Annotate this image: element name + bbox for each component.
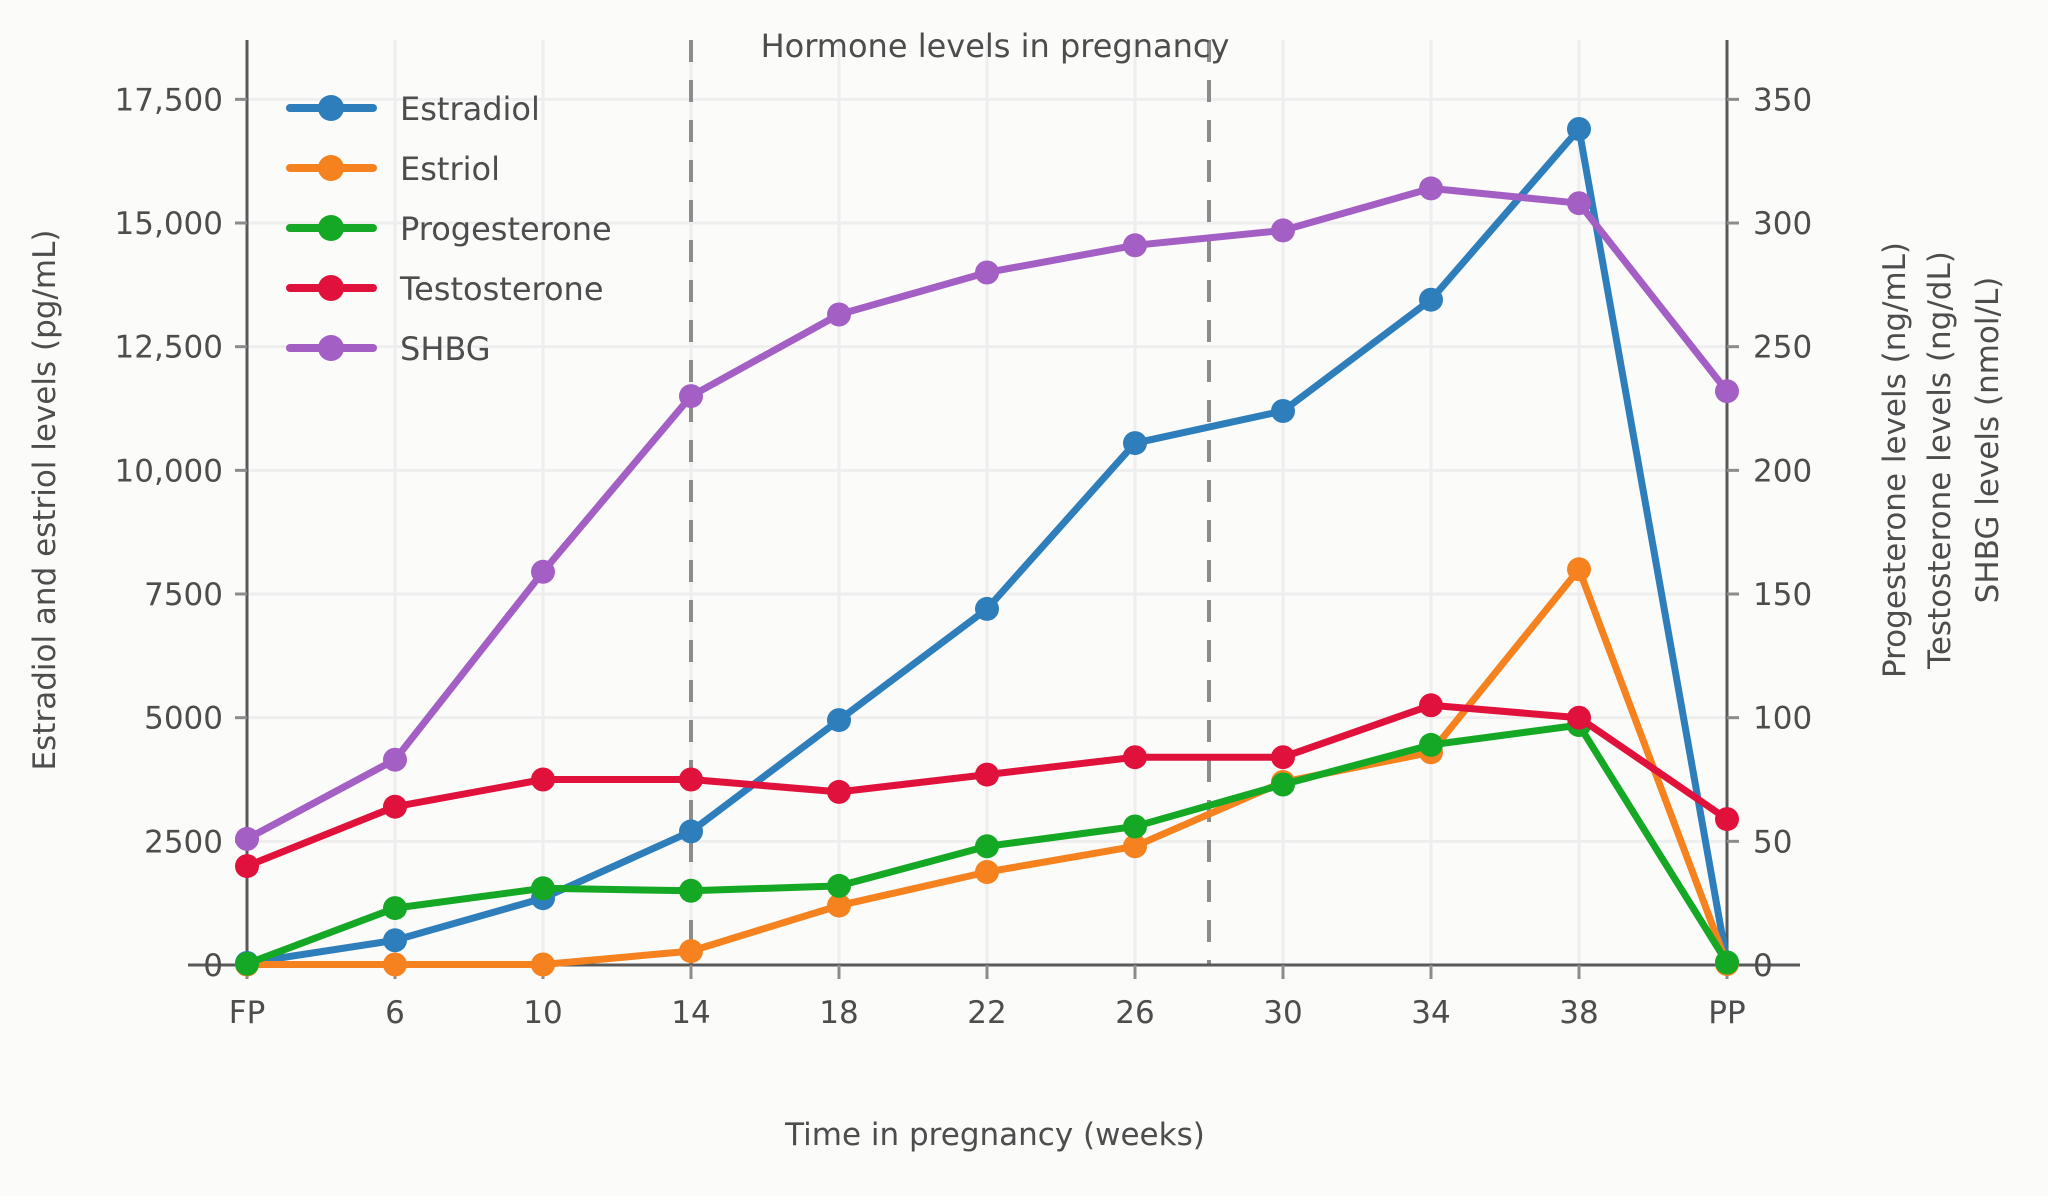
data-point[interactable]: [1419, 288, 1443, 312]
y-tick-label-left: 0: [203, 948, 223, 984]
chart-title: Hormone levels in pregnancy: [761, 27, 1230, 65]
legend-label: Testosterone: [399, 270, 604, 308]
data-point[interactable]: [1271, 399, 1295, 423]
data-point[interactable]: [531, 876, 555, 900]
y-axis-left-title: Estradiol and estriol levels (pg/mL): [27, 230, 63, 771]
y-tick-label-right: 150: [1753, 577, 1812, 613]
data-point[interactable]: [235, 827, 259, 851]
hormone-levels-line-chart: 025005000750010,00012,50015,00017,500 05…: [0, 0, 2048, 1196]
legend-dot-marker: [318, 155, 344, 181]
data-point[interactable]: [827, 780, 851, 804]
data-point[interactable]: [235, 854, 259, 878]
data-point[interactable]: [1123, 233, 1147, 257]
data-point[interactable]: [975, 834, 999, 858]
data-point[interactable]: [383, 896, 407, 920]
y-tick-label-right: 300: [1753, 206, 1812, 242]
y-tick-label-left: 15,000: [115, 206, 223, 242]
legend-label: Estriol: [400, 150, 500, 188]
data-point[interactable]: [383, 795, 407, 819]
data-point[interactable]: [1567, 191, 1591, 215]
data-point[interactable]: [1419, 693, 1443, 717]
data-point[interactable]: [679, 879, 703, 903]
y-tick-label-left: 12,500: [115, 330, 223, 366]
x-tick-label: 30: [1263, 995, 1302, 1031]
y-tick-label-left: 2500: [144, 824, 223, 860]
y-axis-right-title-testosterone: Testosterone levels (ng/dL): [1922, 251, 1958, 670]
data-point[interactable]: [1567, 117, 1591, 141]
x-tick-label: 26: [1115, 995, 1154, 1031]
y-tick-label-right: 350: [1753, 82, 1812, 118]
data-point[interactable]: [679, 768, 703, 792]
data-point[interactable]: [1419, 733, 1443, 757]
data-point[interactable]: [1567, 557, 1591, 581]
legend-label: Estradiol: [400, 90, 540, 128]
x-tick-label: 10: [523, 995, 562, 1031]
data-point[interactable]: [975, 597, 999, 621]
y-tick-label-left: 17,500: [115, 82, 223, 118]
legend-dot-marker: [318, 215, 344, 241]
y-tick-label-right: 0: [1753, 948, 1773, 984]
data-point[interactable]: [531, 953, 555, 977]
y-axis-right-title-progesterone: Progesterone levels (ng/mL): [1877, 242, 1913, 678]
data-point[interactable]: [827, 708, 851, 732]
data-point[interactable]: [679, 819, 703, 843]
data-point[interactable]: [679, 384, 703, 408]
y-tick-label-right: 250: [1753, 330, 1812, 366]
y-tick-label-left: 5000: [144, 701, 223, 737]
x-tick-label: 18: [819, 995, 858, 1031]
legend-label: Progesterone: [400, 210, 612, 248]
data-point[interactable]: [1419, 176, 1443, 200]
y-tick-label-left: 10,000: [115, 453, 223, 489]
y-tick-label-left: 7500: [144, 577, 223, 613]
x-tick-label: 14: [671, 995, 710, 1031]
data-point[interactable]: [531, 560, 555, 584]
data-point[interactable]: [975, 860, 999, 884]
legend-label: SHBG: [400, 330, 491, 368]
x-tick-label: FP: [229, 995, 266, 1031]
data-point[interactable]: [383, 953, 407, 977]
x-tick-label: 34: [1411, 995, 1450, 1031]
data-point[interactable]: [1715, 379, 1739, 403]
x-tick-label: PP: [1708, 995, 1745, 1031]
data-point[interactable]: [1271, 218, 1295, 242]
data-point[interactable]: [827, 303, 851, 327]
data-point[interactable]: [531, 768, 555, 792]
data-point[interactable]: [1715, 951, 1739, 975]
chart-container: 025005000750010,00012,50015,00017,500 05…: [0, 0, 2048, 1196]
data-point[interactable]: [975, 261, 999, 285]
data-point[interactable]: [1271, 773, 1295, 797]
data-point[interactable]: [1271, 745, 1295, 769]
y-axis-right-title-shbg: SHBG levels (nmol/L): [1970, 277, 2006, 604]
data-point[interactable]: [827, 874, 851, 898]
data-point[interactable]: [1123, 431, 1147, 455]
data-point[interactable]: [235, 952, 259, 976]
y-tick-label-right: 50: [1753, 824, 1792, 860]
data-point[interactable]: [383, 928, 407, 952]
data-point[interactable]: [1123, 815, 1147, 839]
data-point[interactable]: [679, 939, 703, 963]
x-axis-title: Time in pregnancy (weeks): [784, 1117, 1205, 1153]
data-point[interactable]: [1567, 706, 1591, 730]
legend-dot-marker: [318, 95, 344, 121]
y-tick-label-right: 200: [1753, 453, 1812, 489]
legend-dot-marker: [318, 335, 344, 361]
legend-dot-marker: [318, 275, 344, 301]
data-point[interactable]: [1715, 807, 1739, 831]
x-tick-label: 38: [1559, 995, 1598, 1031]
x-tick-label: 22: [967, 995, 1006, 1031]
data-point[interactable]: [1123, 745, 1147, 769]
x-tick-label: 6: [385, 995, 405, 1031]
data-point[interactable]: [383, 748, 407, 772]
data-point[interactable]: [975, 763, 999, 787]
y-tick-label-right: 100: [1753, 701, 1812, 737]
